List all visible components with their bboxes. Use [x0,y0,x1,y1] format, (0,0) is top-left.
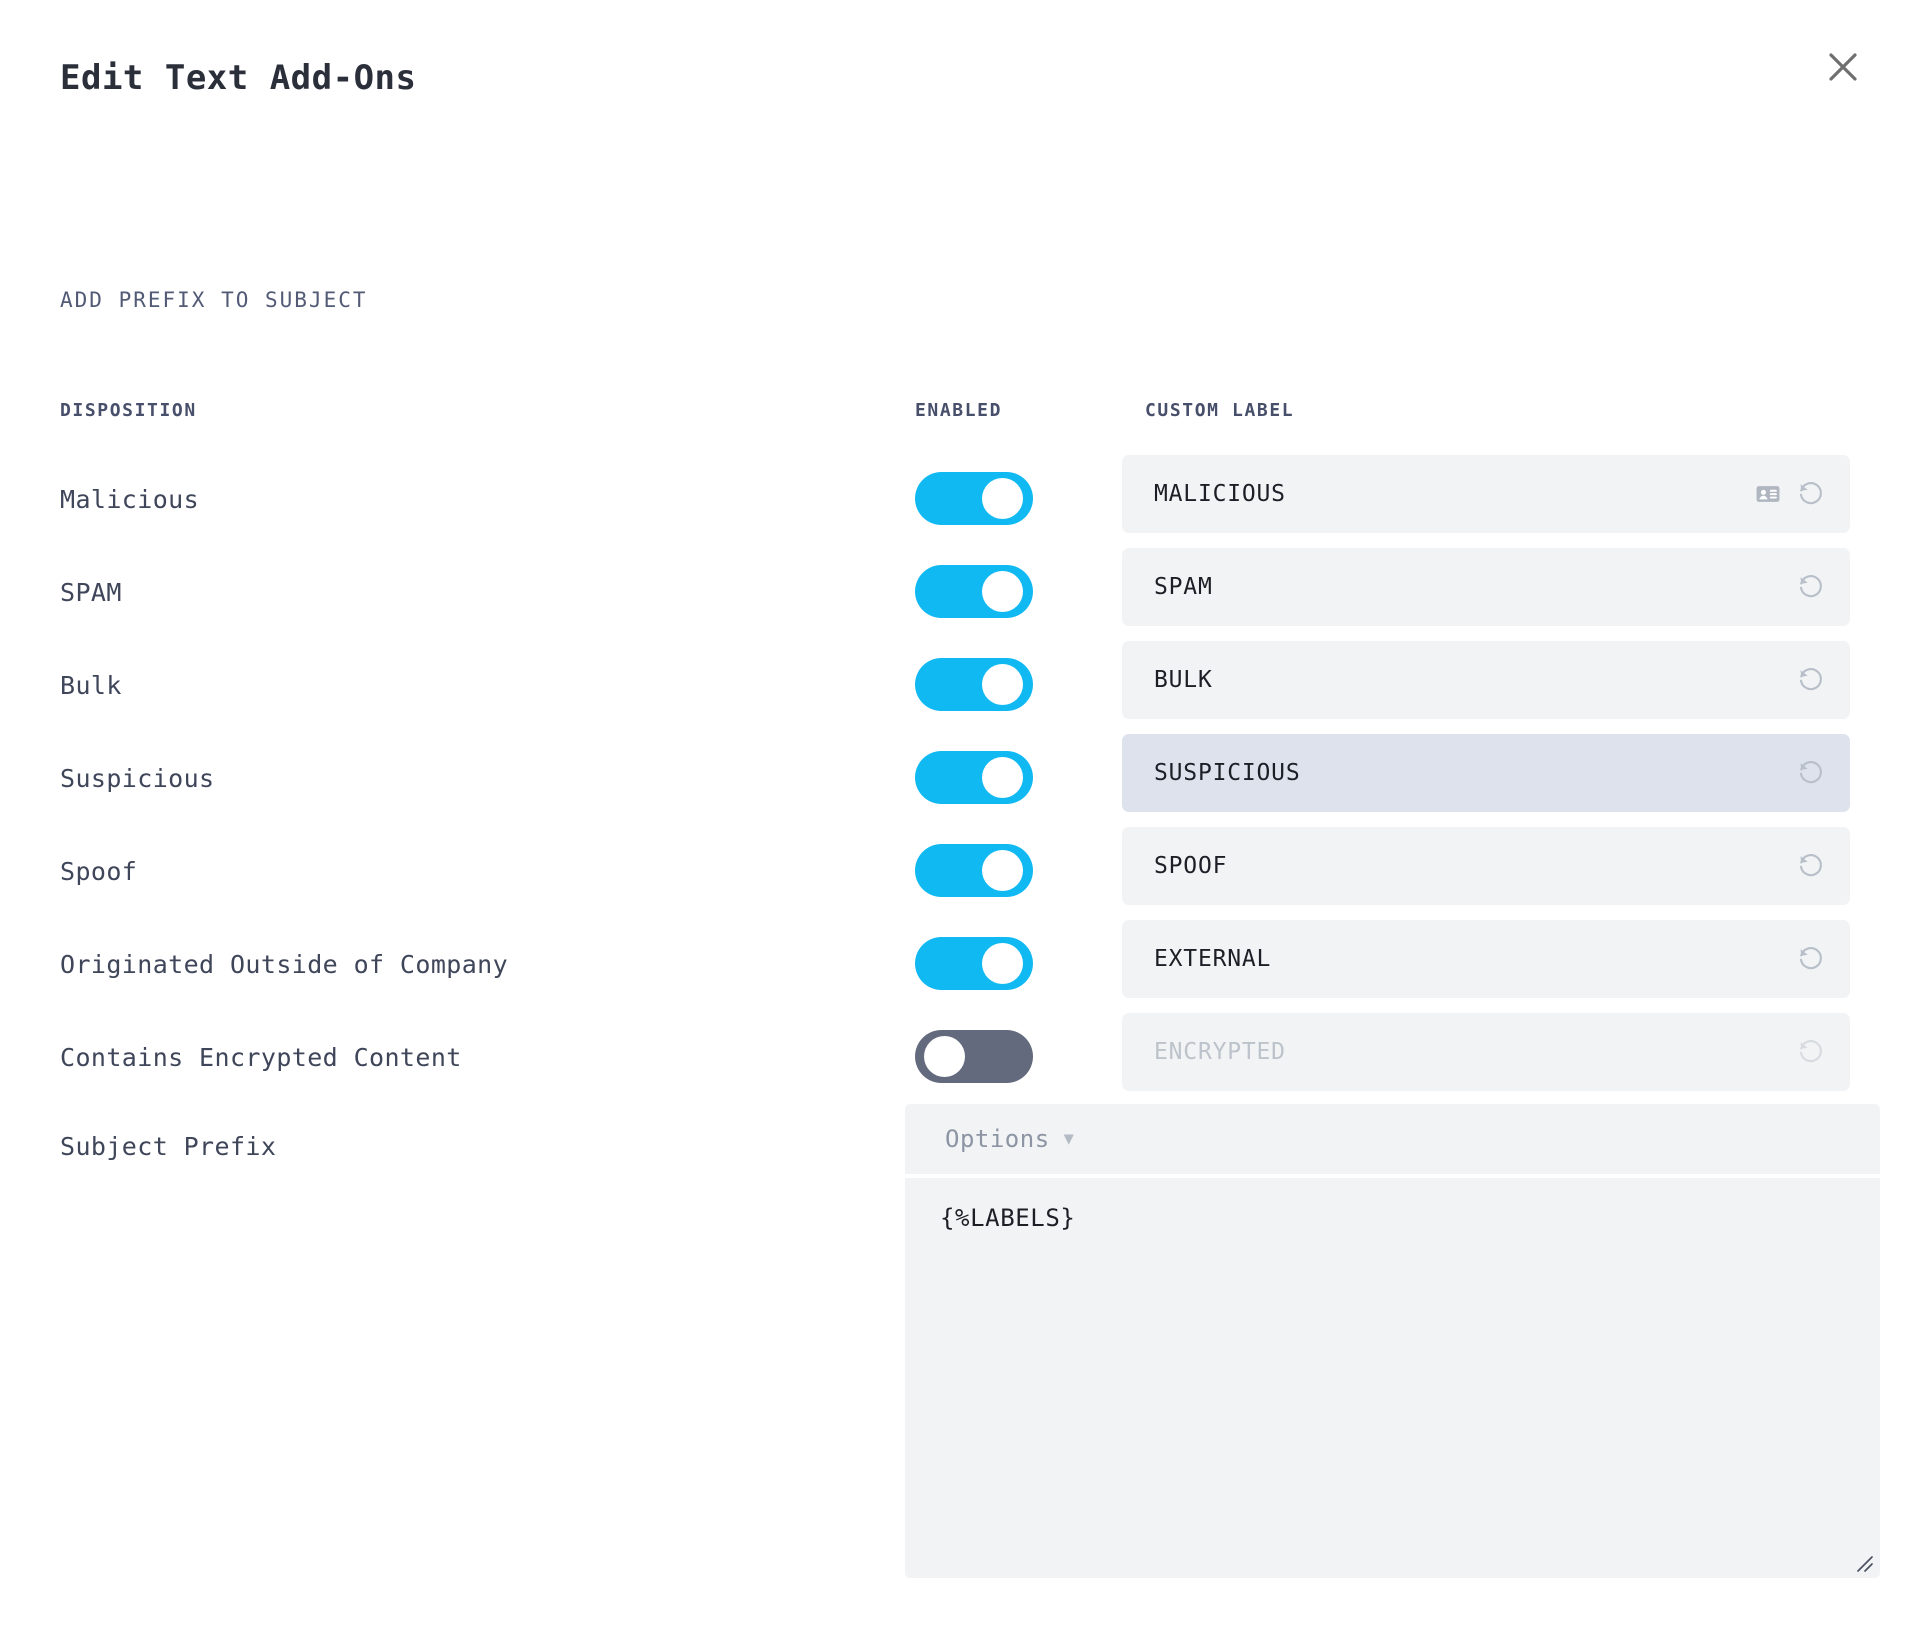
custom-label-icons [1754,479,1850,509]
reset-icon[interactable] [1796,572,1826,602]
reset-icon[interactable] [1796,944,1826,974]
chevron-down-icon: ▼ [1064,1131,1074,1148]
disposition-label: Bulk [60,671,122,700]
custom-label-value: EXTERNAL [1122,946,1796,972]
disposition-label: Spoof [60,857,137,886]
reset-icon[interactable] [1796,665,1826,695]
close-button[interactable] [1816,40,1870,94]
table-row: Contains Encrypted ContentENCRYPTED [0,1013,1908,1106]
section-title: ADD PREFIX TO SUBJECT [60,288,368,312]
custom-label-input[interactable]: SPOOF [1122,827,1850,905]
toggle-knob [924,1036,965,1077]
disposition-label: SPAM [60,578,122,607]
toggle-knob [982,943,1023,984]
enabled-toggle[interactable] [915,937,1033,990]
custom-label-value: SPOOF [1122,853,1796,879]
custom-label-icons [1796,944,1850,974]
custom-label-value: SPAM [1122,574,1796,600]
column-header-custom-label: CUSTOM LABEL [1145,400,1294,421]
table-row: SPAMSPAM [0,548,1908,641]
enabled-toggle[interactable] [915,751,1033,804]
options-dropdown-label: Options [905,1125,1050,1153]
table-row: SpoofSPOOF [0,827,1908,920]
toggle-knob [982,757,1023,798]
table-row: BulkBULK [0,641,1908,734]
subject-prefix-textarea-value: {%LABELS} [940,1204,1075,1232]
custom-label-icons [1796,1037,1850,1067]
table-row: MaliciousMALICIOUS [0,455,1908,548]
custom-label-icons [1796,851,1850,881]
enabled-toggle[interactable] [915,844,1033,897]
disposition-label: Suspicious [60,764,215,793]
custom-label-icons [1796,758,1850,788]
enabled-toggle[interactable] [915,565,1033,618]
custom-label-value: SUSPICIOUS [1122,760,1796,786]
custom-label-icons [1796,572,1850,602]
options-dropdown[interactable]: Options ▼ [905,1104,1880,1174]
column-header-enabled: ENABLED [915,400,1002,421]
custom-label-value: ENCRYPTED [1122,1039,1796,1065]
table-row: Originated Outside of CompanyEXTERNAL [0,920,1908,1013]
toggle-knob [982,478,1023,519]
reset-icon [1796,1037,1826,1067]
enabled-toggle[interactable] [915,472,1033,525]
disposition-label: Originated Outside of Company [60,950,508,979]
reset-icon[interactable] [1796,758,1826,788]
table-row: SuspiciousSUSPICIOUS [0,734,1908,827]
close-icon [1826,50,1860,84]
custom-label-input[interactable]: ENCRYPTED [1122,1013,1850,1091]
contact-card-icon[interactable] [1754,480,1782,508]
dialog-header: Edit Text Add-Ons [0,0,1908,150]
toggle-knob [982,664,1023,705]
enabled-toggle[interactable] [915,658,1033,711]
subject-prefix-label: Subject Prefix [60,1132,276,1161]
page-title: Edit Text Add-Ons [60,58,417,98]
custom-label-input[interactable]: BULK [1122,641,1850,719]
disposition-rows: MaliciousMALICIOUSSPAMSPAMBulkBULKSuspic… [0,455,1908,1106]
toggle-knob [982,850,1023,891]
reset-icon[interactable] [1796,479,1826,509]
subject-prefix-textarea[interactable]: {%LABELS} [905,1178,1880,1578]
custom-label-input[interactable]: EXTERNAL [1122,920,1850,998]
custom-label-icons [1796,665,1850,695]
custom-label-input[interactable]: SUSPICIOUS [1122,734,1850,812]
column-header-disposition: DISPOSITION [60,400,197,421]
custom-label-input[interactable]: SPAM [1122,548,1850,626]
enabled-toggle[interactable] [915,1030,1033,1083]
toggle-knob [982,571,1023,612]
disposition-label: Contains Encrypted Content [60,1043,462,1072]
custom-label-value: MALICIOUS [1122,481,1754,507]
reset-icon[interactable] [1796,851,1826,881]
custom-label-input[interactable]: MALICIOUS [1122,455,1850,533]
disposition-label: Malicious [60,485,199,514]
custom-label-value: BULK [1122,667,1796,693]
resize-grip-icon[interactable] [1852,1551,1874,1573]
